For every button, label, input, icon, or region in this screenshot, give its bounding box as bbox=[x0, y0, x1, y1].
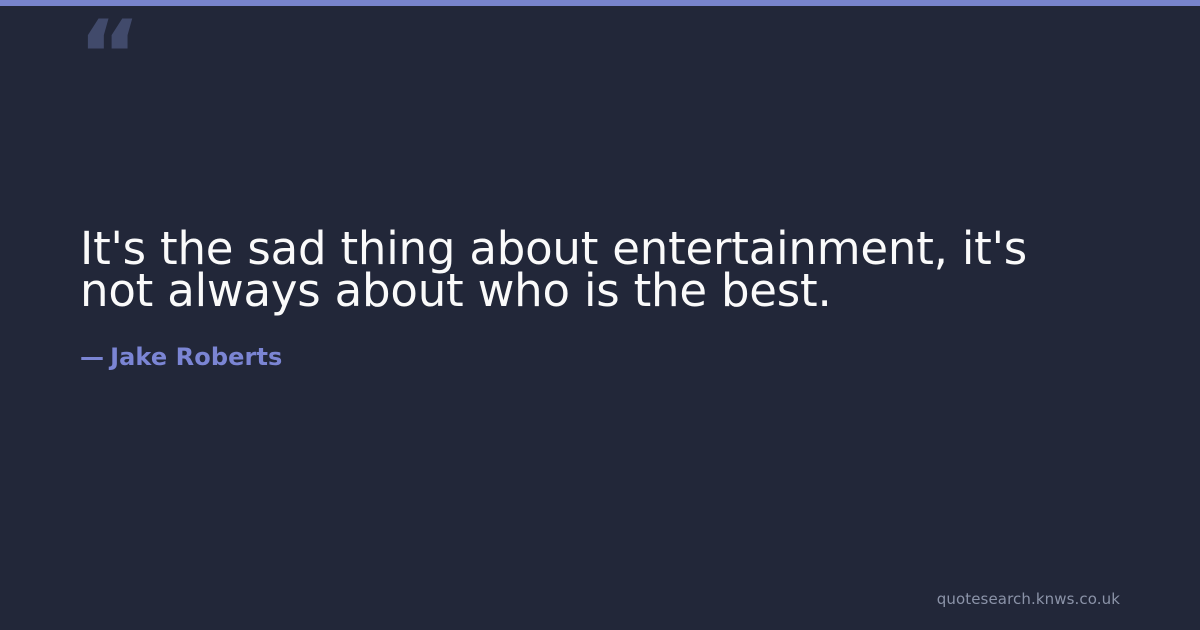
author-name: Jake Roberts bbox=[110, 343, 282, 371]
quote-card: “ It's the sad thing about entertainment… bbox=[0, 0, 1200, 630]
attribution-dash: — bbox=[80, 343, 104, 371]
source-url: quotesearch.knws.co.uk bbox=[937, 590, 1120, 608]
quote-text: It's the sad thing about entertainment, … bbox=[80, 228, 1100, 312]
top-accent-bar bbox=[0, 0, 1200, 6]
open-quote-icon: “ bbox=[78, 8, 139, 104]
quote-content: It's the sad thing about entertainment, … bbox=[80, 228, 1120, 372]
quote-attribution: —Jake Roberts bbox=[80, 312, 1120, 372]
